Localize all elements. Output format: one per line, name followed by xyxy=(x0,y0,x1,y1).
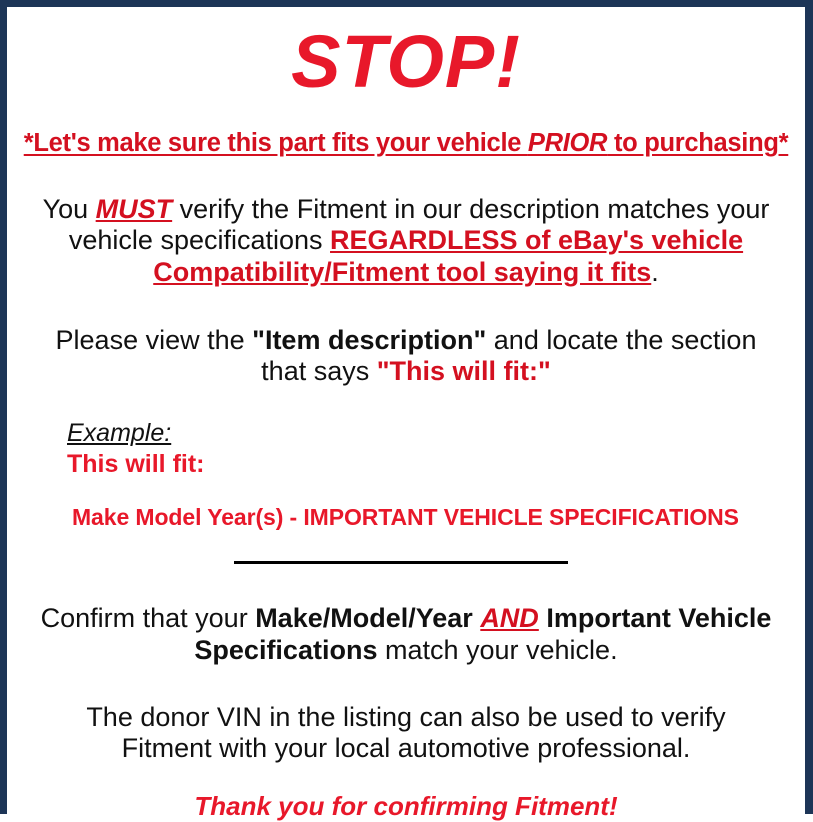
subtitle-emphasis-prior: PRIOR xyxy=(528,129,607,157)
p1-emphasis-must: MUST xyxy=(96,194,173,224)
p2-emphasis-item-description: "Item description" xyxy=(252,325,486,355)
subtitle-line: *Let's make sure this part fits your veh… xyxy=(17,129,795,157)
example-spec-line: Make Model Year(s) - IMPORTANT VEHICLE S… xyxy=(67,504,795,530)
p4-text-1: Confirm that your xyxy=(41,603,256,633)
divider-wrap xyxy=(17,556,795,570)
thank-you-line: Thank you for confirming Fitment! xyxy=(17,791,795,822)
subtitle-text-after: to purchasing* xyxy=(607,129,788,157)
example-this-will-fit: This will fit: xyxy=(67,450,795,479)
example-block: Example: This will fit: Make Model Year(… xyxy=(17,420,795,531)
paragraph-confirm-match: Confirm that your Make/Model/Year AND Im… xyxy=(17,603,795,666)
fitment-notice-card: STOP! *Let's make sure this part fits yo… xyxy=(0,0,813,814)
p1-text-3: . xyxy=(651,257,659,287)
p4-text-4: match your vehicle. xyxy=(377,635,617,665)
paragraph-item-description: Please view the "Item description" and l… xyxy=(17,325,795,388)
stop-heading: STOP! xyxy=(17,25,795,99)
p1-text-1: You xyxy=(43,194,96,224)
p2-emphasis-this-will-fit: "This will fit:" xyxy=(377,356,551,386)
paragraph-verify-fitment: You MUST verify the Fitment in our descr… xyxy=(17,194,795,288)
p4-emphasis-and: AND xyxy=(480,603,539,633)
p4-emphasis-make-model-year: Make/Model/Year xyxy=(255,603,473,633)
subtitle-text-before: *Let's make sure this part fits your veh… xyxy=(24,129,528,157)
notice-inner-panel: STOP! *Let's make sure this part fits yo… xyxy=(7,25,805,821)
example-label: Example: xyxy=(67,420,795,448)
paragraph-donor-vin: The donor VIN in the listing can also be… xyxy=(17,702,795,765)
p2-text-1: Please view the xyxy=(56,325,253,355)
horizontal-divider xyxy=(234,561,568,564)
